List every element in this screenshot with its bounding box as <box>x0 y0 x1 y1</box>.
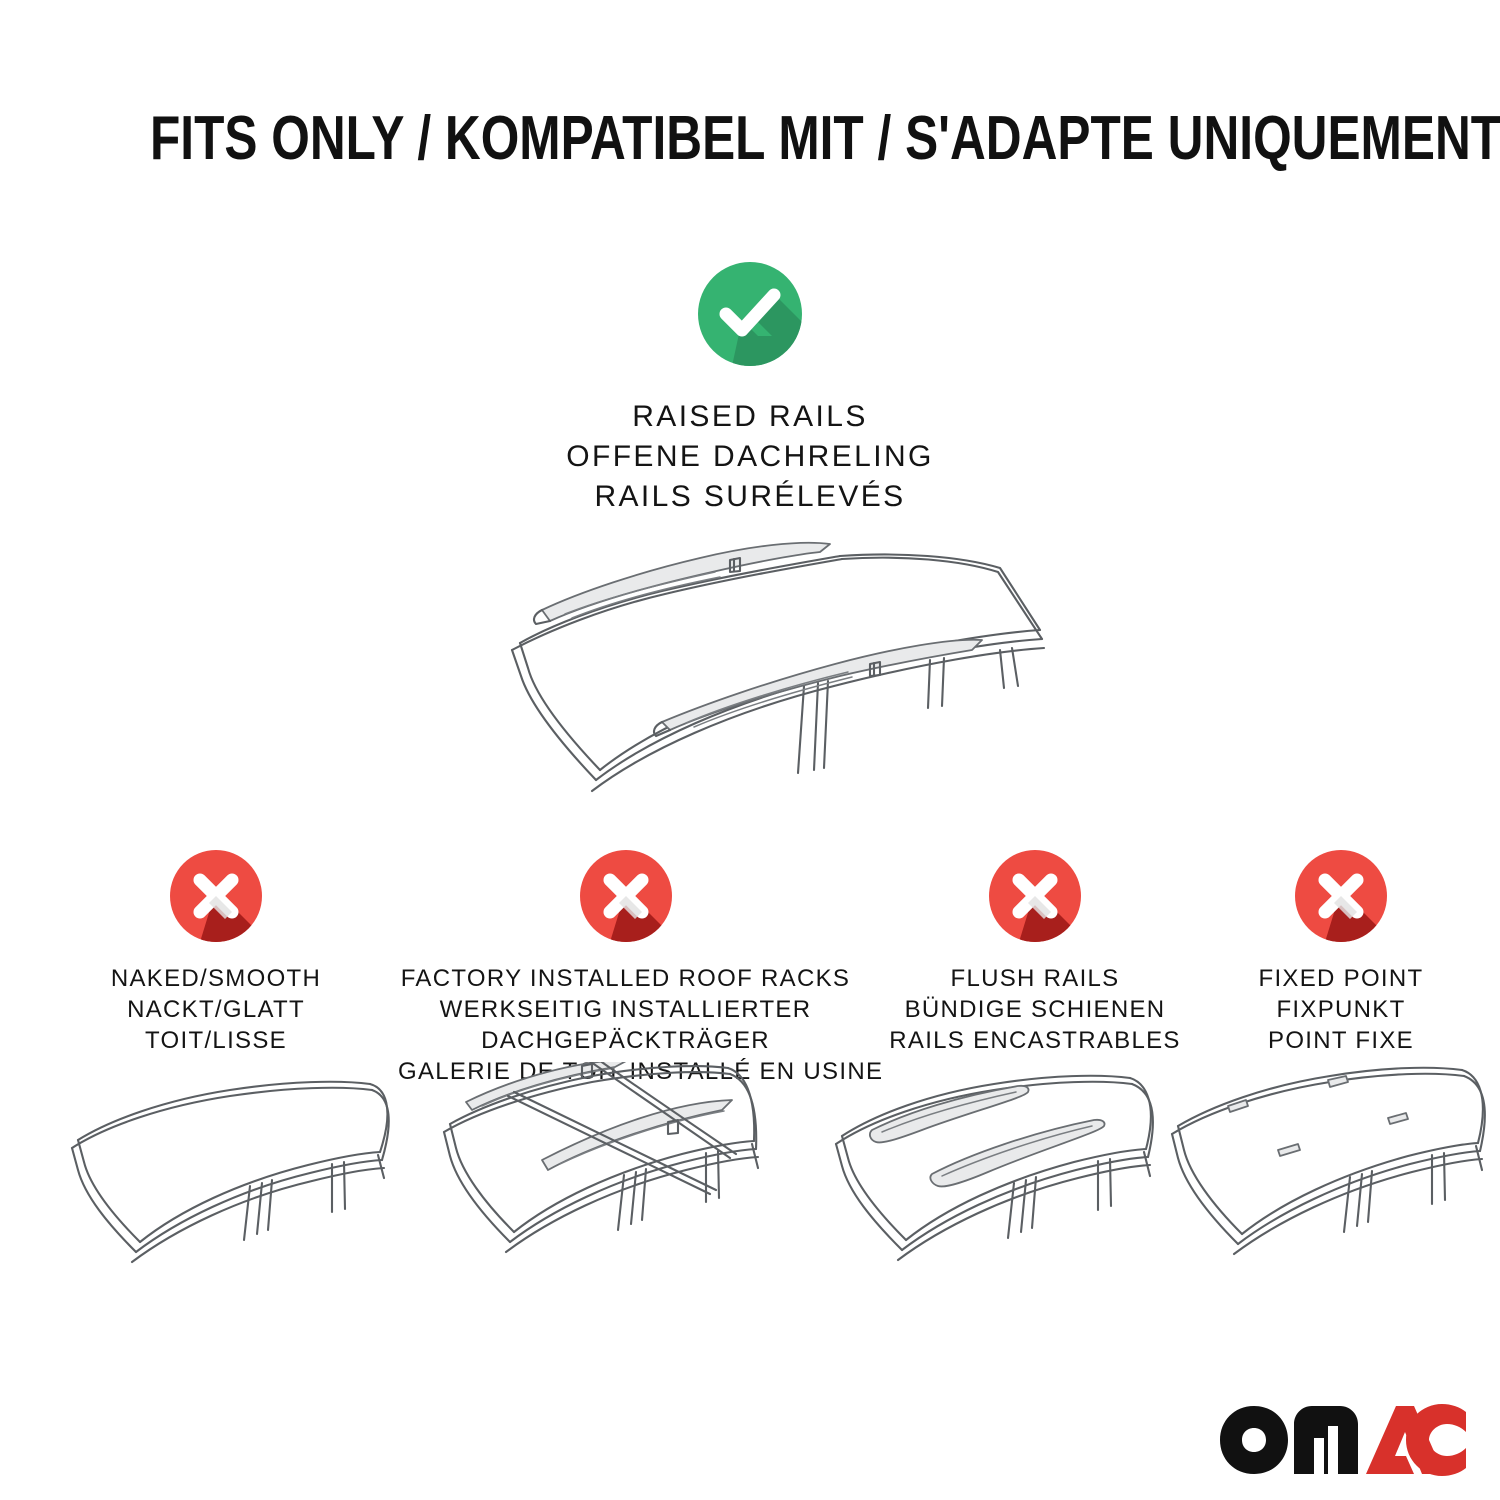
denied-label-line-de: FIXPUNKT <box>1196 994 1486 1025</box>
x-circle-icon <box>989 850 1081 942</box>
denied-label-line-en: FLUSH RAILS <box>855 963 1215 994</box>
denied-label-line-fr: POINT FIXE <box>1196 1025 1486 1056</box>
denied-item-naked-smooth: NAKED/SMOOTH NACKT/GLATT TOIT/LISSE <box>26 850 406 1056</box>
denied-label-line-en: FIXED POINT <box>1196 963 1486 994</box>
page-title: FITS ONLY / KOMPATIBEL MIT / S'ADAPTE UN… <box>150 104 1350 174</box>
denied-label-line-en: NAKED/SMOOTH <box>26 963 406 994</box>
x-circle-icon <box>580 850 672 942</box>
denied-item-factory-roof-racks: FACTORY INSTALLED ROOF RACKS WERKSEITIG … <box>398 850 853 1087</box>
car-roof-flush-rails-illustration <box>810 1062 1180 1292</box>
x-circle-icon <box>1295 850 1387 942</box>
denied-item-flush-rails: FLUSH RAILS BÜNDIGE SCHIENEN RAILS ENCAS… <box>855 850 1215 1056</box>
denied-label-naked-smooth: NAKED/SMOOTH NACKT/GLATT TOIT/LISSE <box>26 963 406 1056</box>
car-roof-naked-smooth-illustration <box>40 1062 410 1292</box>
denied-item-fixed-point: FIXED POINT FIXPUNKT POINT FIXE <box>1196 850 1486 1056</box>
car-roof-fixed-point-illustration <box>1150 1062 1500 1292</box>
denied-label-line-en: FACTORY INSTALLED ROOF RACKS <box>398 963 853 994</box>
omac-logo <box>1218 1404 1468 1476</box>
denied-label-line-fr: TOIT/LISSE <box>26 1025 406 1056</box>
check-circle-icon <box>698 262 802 366</box>
denied-section: NAKED/SMOOTH NACKT/GLATT TOIT/LISSE <box>0 850 1500 1290</box>
denied-label-line-de: NACKT/GLATT <box>26 994 406 1025</box>
approved-label: RAISED RAILS OFFENE DACHRELING RAILS SUR… <box>0 397 1500 517</box>
denied-label-line-de: BÜNDIGE SCHIENEN <box>855 994 1215 1025</box>
denied-label-flush-rails: FLUSH RAILS BÜNDIGE SCHIENEN RAILS ENCAS… <box>855 963 1215 1056</box>
approved-label-line-de: OFFENE DACHRELING <box>0 437 1500 477</box>
approved-section: RAISED RAILS OFFENE DACHRELING RAILS SUR… <box>0 262 1500 517</box>
denied-label-line-de-1: WERKSEITIG INSTALLIERTER <box>398 994 853 1025</box>
approved-label-line-en: RAISED RAILS <box>0 397 1500 437</box>
denied-label-line-de-2: DACHGEPÄCKTRÄGER <box>398 1025 853 1056</box>
x-circle-icon <box>170 850 262 942</box>
denied-label-fixed-point: FIXED POINT FIXPUNKT POINT FIXE <box>1196 963 1486 1056</box>
denied-label-line-fr: RAILS ENCASTRABLES <box>855 1025 1215 1056</box>
car-roof-factory-roof-rack-illustration <box>410 1062 780 1292</box>
car-roof-raised-rails-illustration <box>400 508 1100 838</box>
